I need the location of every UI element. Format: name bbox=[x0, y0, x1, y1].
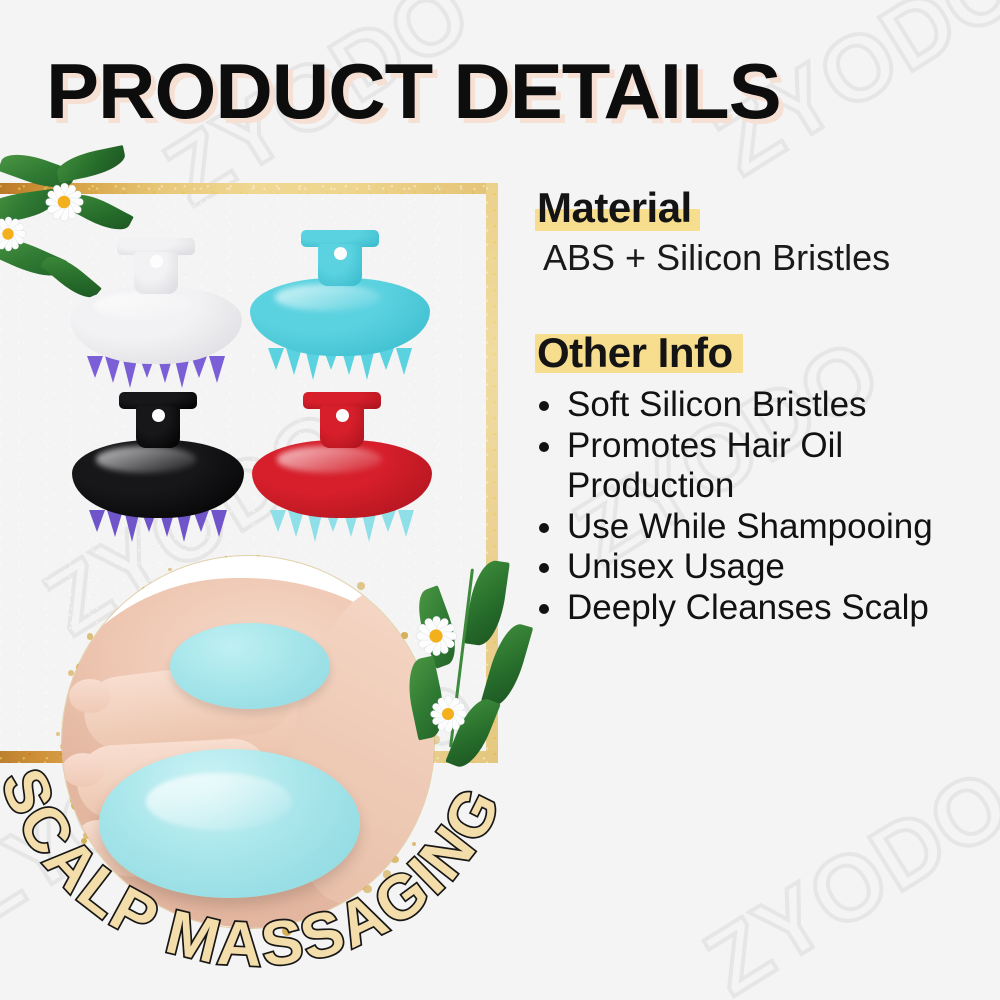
list-item: Soft Silicon Bristles bbox=[537, 385, 992, 425]
svg-text:SCALP MASSAGING: SCALP MASSAGING bbox=[0, 760, 515, 980]
list-item: Promotes Hair Oil Production bbox=[537, 426, 992, 506]
list-item: Deeply Cleanses Scalp bbox=[537, 588, 992, 628]
leaf-icon bbox=[54, 145, 127, 183]
other-info-heading: Other Info bbox=[537, 329, 733, 376]
daisy-flower-icon bbox=[414, 614, 458, 658]
daisy-flower-icon bbox=[428, 694, 468, 734]
list-item: Use While Shampooing bbox=[537, 507, 992, 547]
daisy-flower-icon bbox=[0, 215, 27, 253]
page-title: PRODUCT DETAILS bbox=[46, 52, 781, 130]
other-info-list: Soft Silicon BristlesPromotes Hair Oil P… bbox=[537, 385, 992, 628]
material-value: ABS + Silicon Bristles bbox=[543, 236, 992, 279]
black-scalp-brush bbox=[72, 392, 244, 562]
material-heading: Material bbox=[537, 184, 692, 231]
watermark-zyodo: ZYODO bbox=[688, 749, 1000, 1000]
other-info-heading-wrap: Other Info bbox=[537, 330, 992, 375]
list-item: Unisex Usage bbox=[537, 547, 992, 587]
scalp-massaging-label: SCALP MASSAGING bbox=[0, 760, 515, 980]
red-scalp-brush bbox=[252, 392, 432, 562]
turquoise-scalp-brush bbox=[250, 230, 430, 400]
material-heading-wrap: Material bbox=[537, 185, 992, 230]
daisy-flower-icon bbox=[43, 181, 85, 223]
info-column: Material ABS + Silicon Bristles Other In… bbox=[537, 185, 992, 629]
scalp-massaging-badge: SCALP MASSAGING bbox=[0, 748, 516, 998]
product-details-card: ZYODO ZYODO ZYODO ZYODO ZYODO ZYODO ZYOD… bbox=[0, 0, 1000, 1000]
